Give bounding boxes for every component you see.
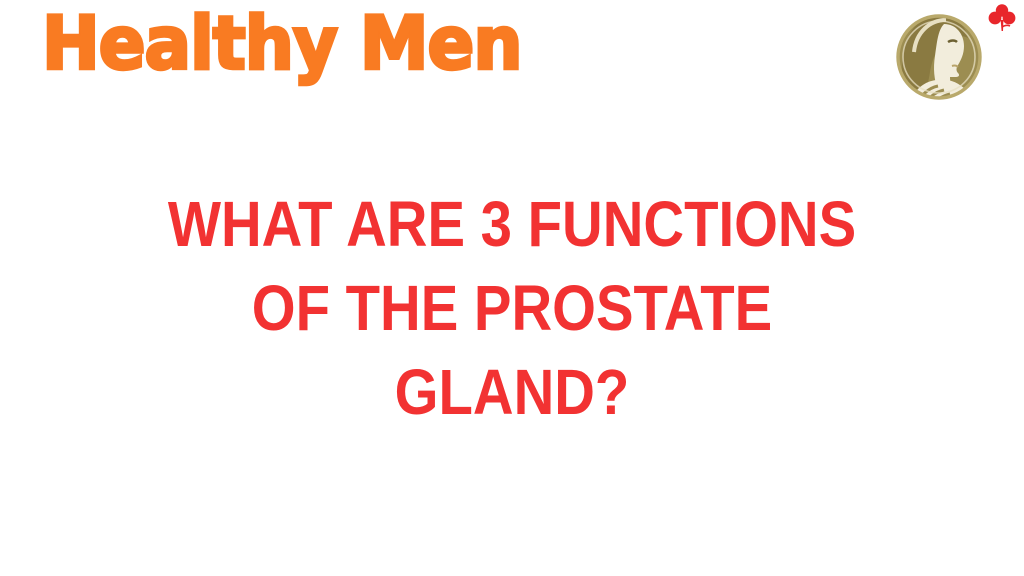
headline-line-2: OF THE PROSTATE [61, 266, 962, 350]
woman-profile-medallion-icon [890, 8, 988, 106]
brand-wordmark: Healthy Men [42, 8, 521, 81]
headline-line-3: GLAND? [61, 350, 962, 434]
page-title: WHAT ARE 3 FUNCTIONS OF THE PROSTATE GLA… [0, 182, 1024, 434]
red-clover-icon [988, 3, 1016, 33]
headline-line-1: WHAT ARE 3 FUNCTIONS [61, 182, 962, 266]
slide-canvas: Healthy Men [0, 0, 1024, 576]
